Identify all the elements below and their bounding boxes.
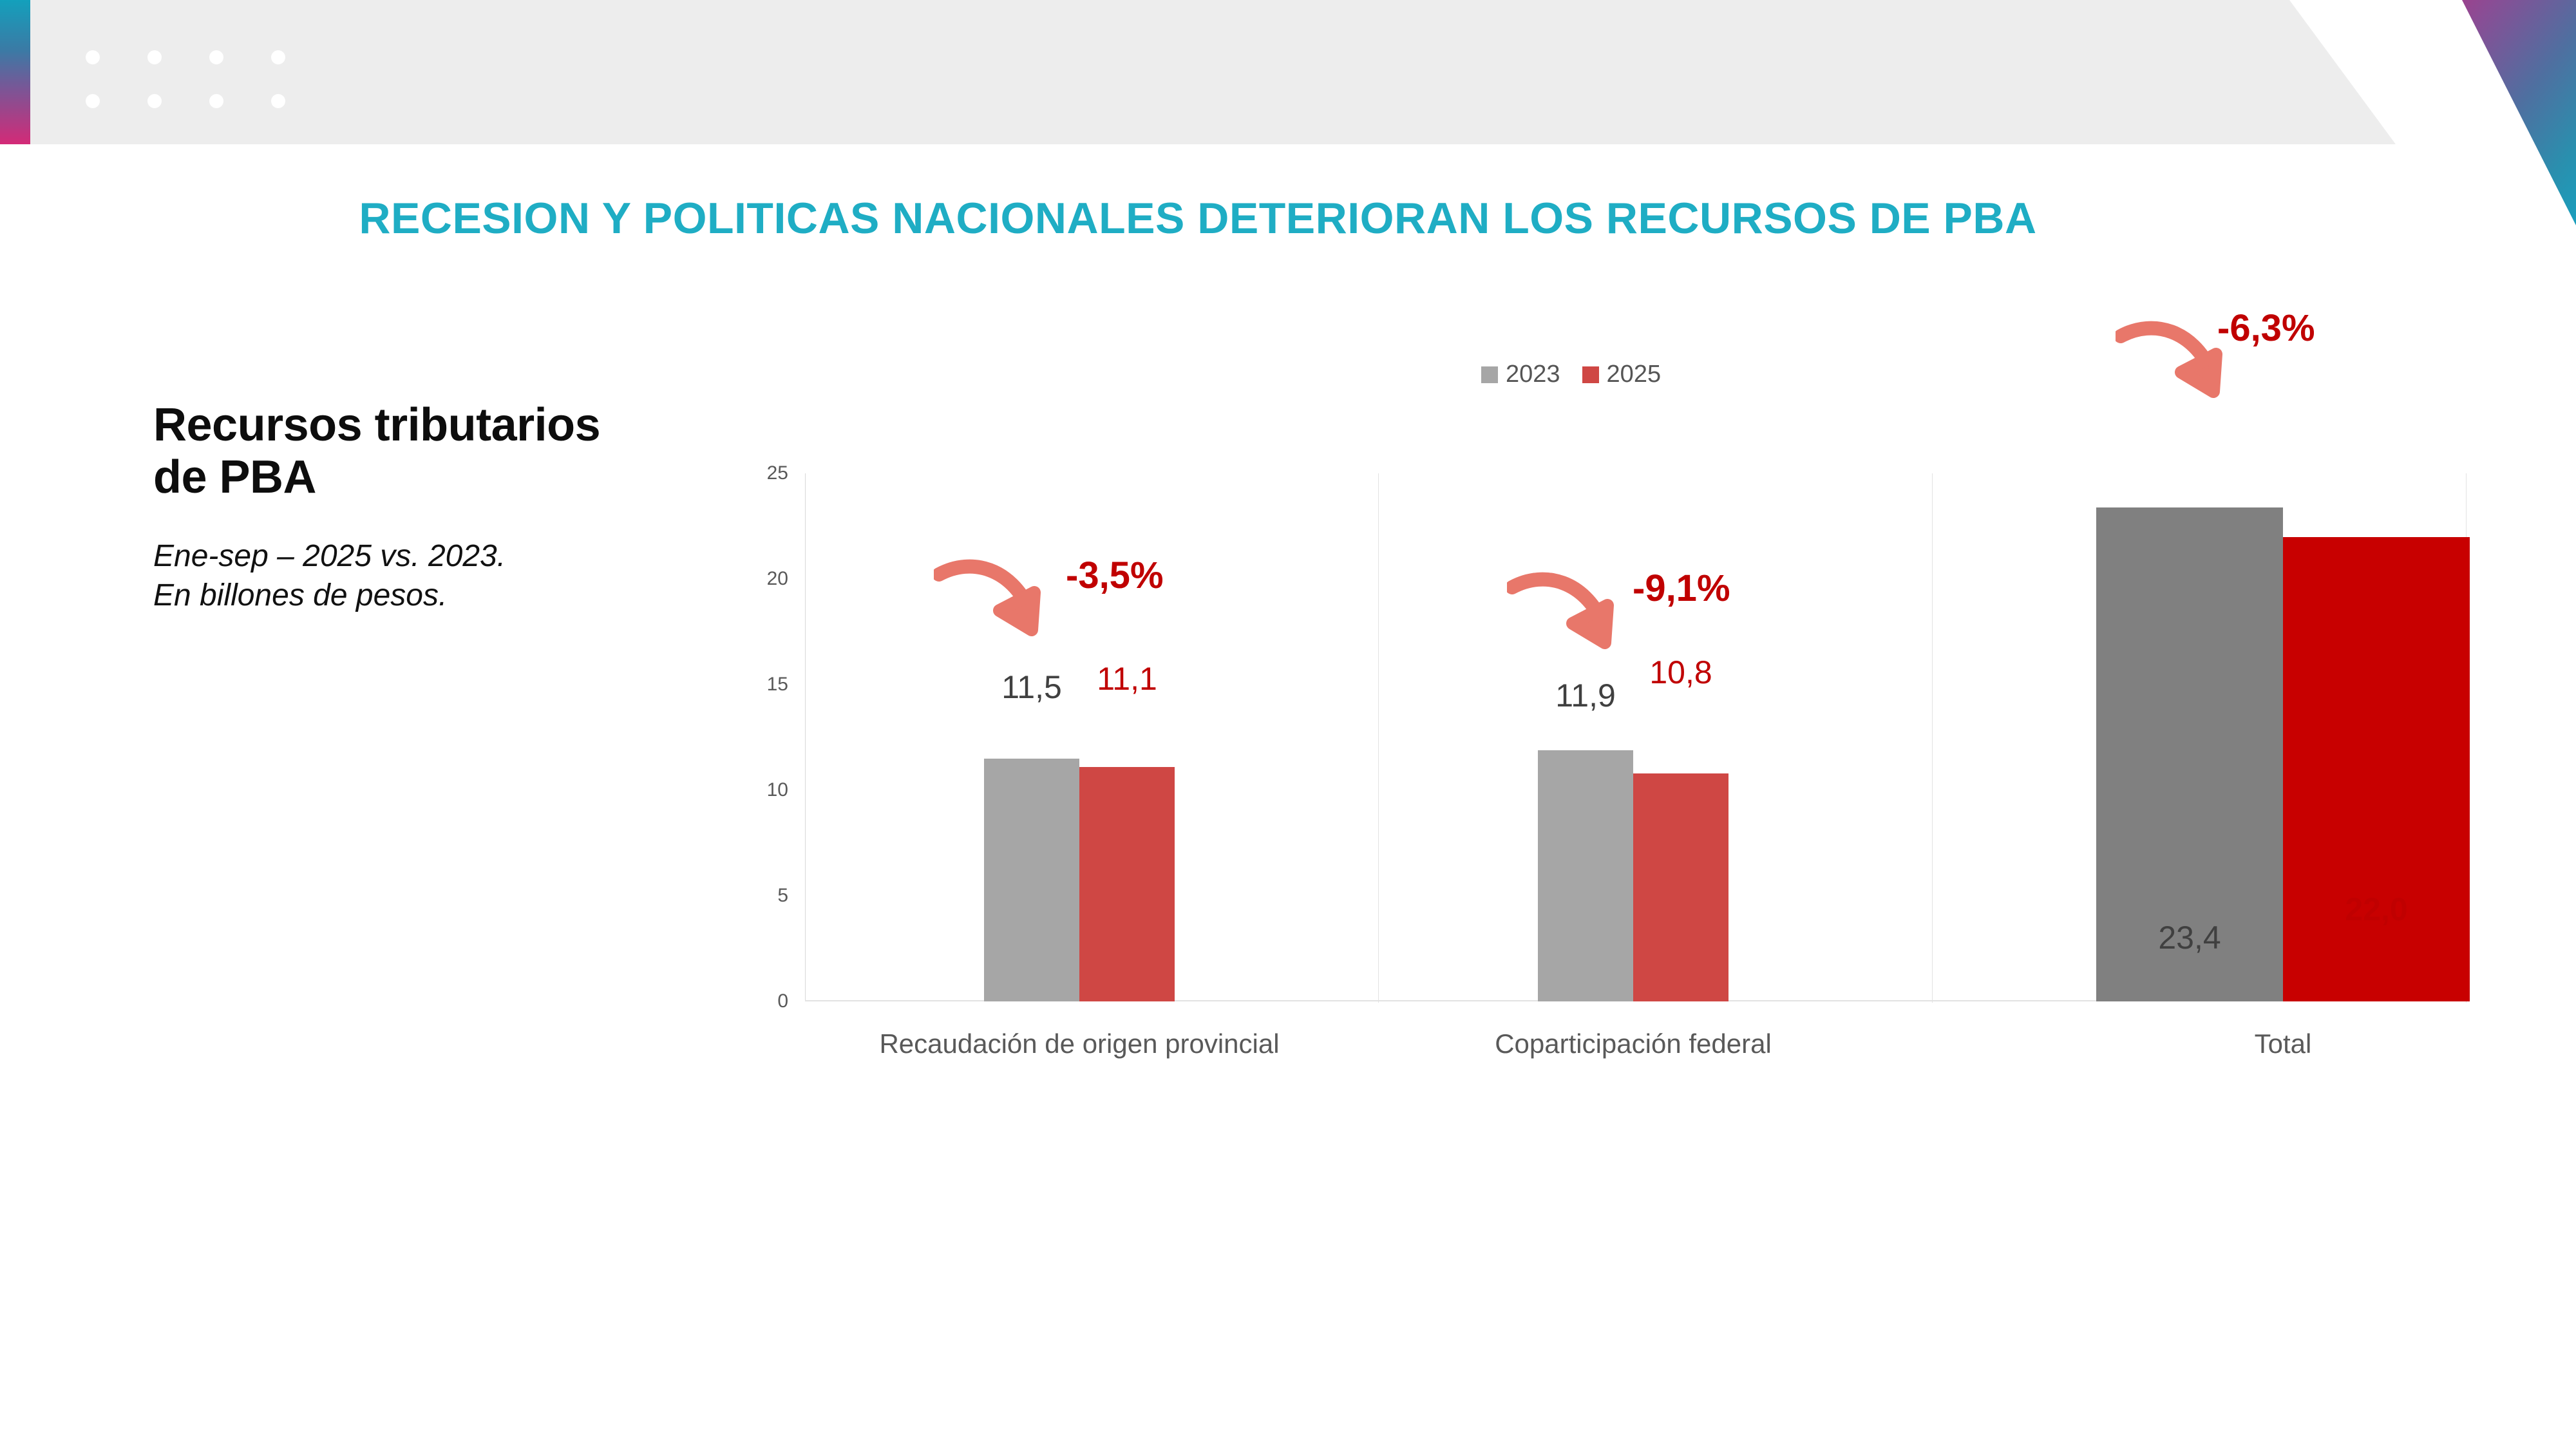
y-tick-label: 0: [621, 990, 788, 1012]
slide-root: RECESION Y POLITICAS NACIONALES DETERIOR…: [0, 0, 2576, 1449]
category-label: Recaudación de origen provincial: [879, 1028, 1279, 1059]
panel-divider: [1378, 473, 1379, 1003]
dot-grid-decoration: [86, 50, 333, 138]
down-arrow-icon: [934, 547, 1063, 650]
y-tick-label: 5: [621, 885, 788, 907]
bar-2023-recaudacion[interactable]: [984, 759, 1079, 1001]
bar-value-label: 11,9: [1555, 677, 1616, 714]
bar-value-label: 22,0: [2345, 891, 2407, 928]
bar-value-label: 11,5: [1001, 668, 1062, 706]
chart-legend: 2023 2025: [1481, 361, 1739, 388]
annotation-label: -9,1%: [1633, 567, 1730, 610]
legend-label: 2025: [1607, 361, 1662, 388]
chart-heading: Recursos tributarios de PBA: [153, 399, 720, 504]
y-tick-label: 10: [621, 779, 788, 801]
dot-icon: [147, 50, 162, 64]
y-tick-label: 15: [621, 674, 788, 696]
dot-icon: [147, 94, 162, 108]
dot-icon: [271, 50, 285, 64]
dot-icon: [86, 94, 100, 108]
bar-chart: 2023 2025 0 5 10 15 20 25 11,5: [676, 361, 2512, 1108]
annotation-label: -6,3%: [2217, 307, 2315, 350]
dot-icon: [209, 50, 223, 64]
page-title: RECESION Y POLITICAS NACIONALES DETERIOR…: [0, 193, 2396, 243]
left-gradient-accent-bar: [0, 0, 30, 144]
bar-2025-coparticipacion[interactable]: [1633, 773, 1728, 1001]
legend-label: 2023: [1506, 361, 1560, 388]
bar-value-label: 11,1: [1097, 660, 1157, 697]
legend-item-2025[interactable]: 2025: [1582, 361, 1662, 388]
bar-2025-recaudacion[interactable]: [1079, 767, 1175, 1001]
y-axis-line: [805, 473, 806, 1001]
category-label: Total: [2255, 1028, 2312, 1059]
dot-icon: [271, 94, 285, 108]
bar-2025-total[interactable]: [2283, 537, 2470, 1001]
legend-swatch-icon: [1582, 366, 1599, 383]
bar-value-label: 10,8: [1649, 654, 1712, 691]
legend-swatch-icon: [1481, 366, 1498, 383]
header-band: [0, 0, 2396, 144]
chart-heading-line-1: Recursos tributarios: [153, 399, 720, 451]
dot-icon: [209, 94, 223, 108]
bar-2023-coparticipacion[interactable]: [1538, 750, 1633, 1001]
legend-item-2023[interactable]: 2023: [1481, 361, 1560, 388]
y-tick-label: 20: [621, 568, 788, 590]
dot-icon: [86, 50, 100, 64]
category-label: Coparticipación federal: [1495, 1028, 1772, 1059]
y-tick-label: 25: [621, 462, 788, 484]
down-arrow-icon: [1507, 560, 1636, 663]
panel-divider: [1932, 473, 1933, 1003]
bar-value-label: 23,4: [2158, 919, 2221, 956]
annotation-label: -3,5%: [1066, 554, 1164, 597]
